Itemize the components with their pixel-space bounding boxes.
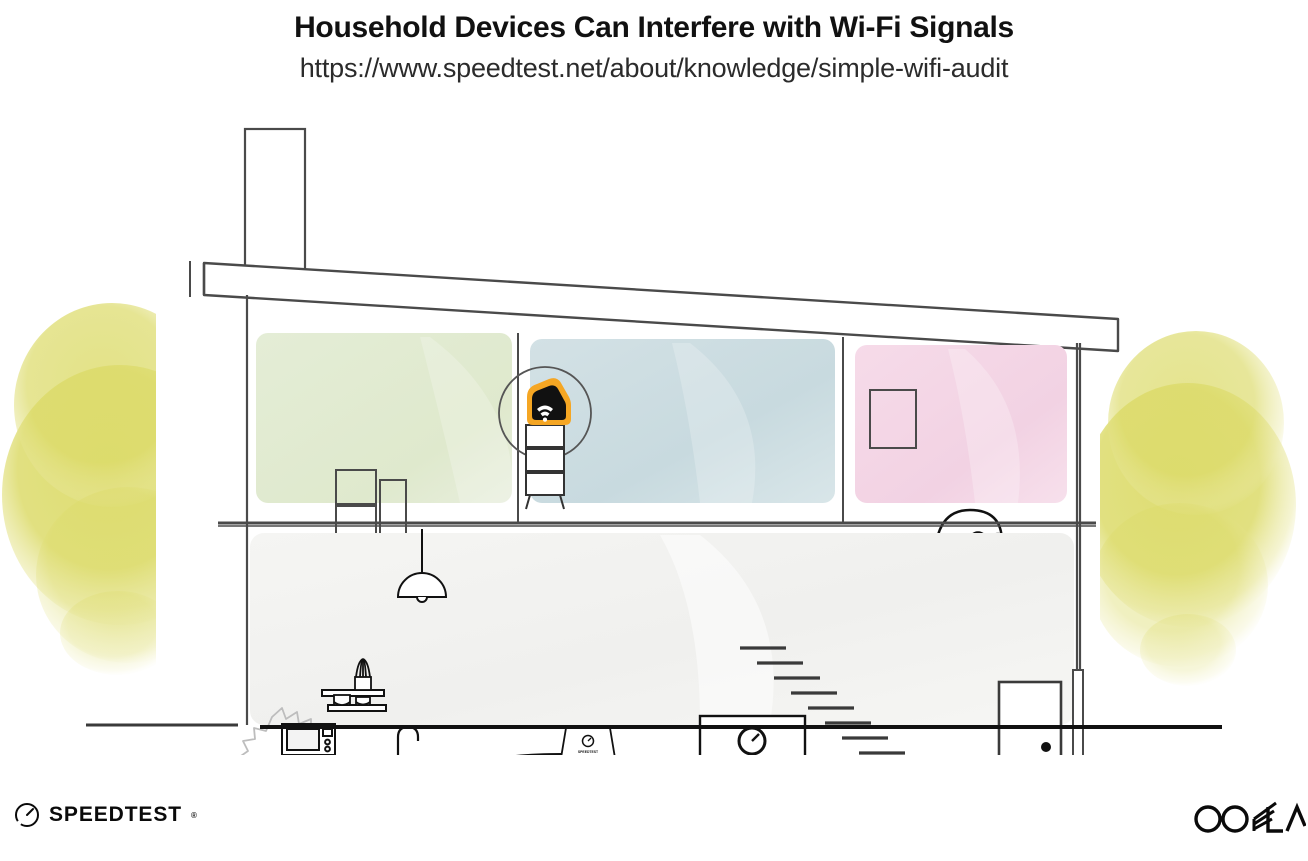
source-url: https://www.speedtest.net/about/knowledg… (0, 52, 1308, 84)
right-post (1073, 670, 1083, 755)
footer: SPEEDTEST ® (0, 790, 1308, 850)
speedtest-wordmark: SPEEDTEST (49, 803, 182, 827)
laptop-screen-label: SPEEDTEST (578, 750, 599, 754)
chimney (245, 129, 305, 279)
sink-faucet (398, 727, 418, 755)
speedometer-gauge-icon (14, 802, 40, 828)
door-knob-icon (1041, 742, 1051, 752)
speedtest-logo[interactable]: SPEEDTEST ® (14, 802, 197, 828)
header: Household Devices Can Interfere with Wi-… (0, 0, 1308, 84)
page-title: Household Devices Can Interfere with Wi-… (0, 10, 1308, 46)
floor-slab (218, 523, 1096, 526)
house-illustration: SPEEDTEST (0, 105, 1308, 755)
room-nursery-pink (855, 345, 1067, 503)
television[interactable]: SPEEDTEST (700, 716, 805, 755)
room-bedroom-green (256, 333, 513, 503)
laptop[interactable]: SPEEDTEST (552, 728, 624, 755)
ookla-rays-icon (1188, 800, 1306, 834)
speedtest-registered-mark: ® (191, 811, 197, 820)
tree-right (1080, 331, 1296, 686)
front-door[interactable] (999, 682, 1061, 755)
infographic-page: Household Devices Can Interfere with Wi-… (0, 0, 1308, 861)
ground-line (86, 725, 1222, 727)
ookla-logo[interactable] (1188, 800, 1306, 839)
room-bedroom-blue (530, 339, 835, 503)
tree-left (2, 303, 238, 675)
